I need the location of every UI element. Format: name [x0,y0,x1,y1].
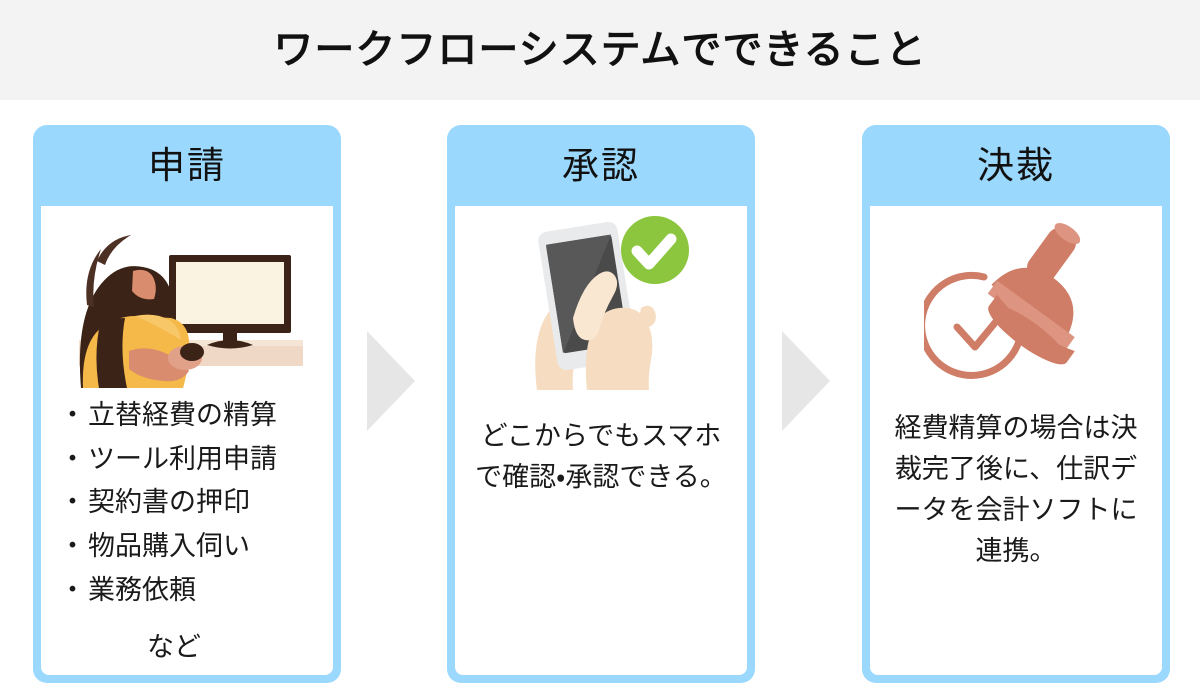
card-header-label: 承認 [562,147,640,184]
card-header-approval: 承認 [447,125,755,206]
list-item: ・物品購入伺い [59,525,333,569]
card-body-decision: 経費精算の場合は決裁完了後に、仕訳データを会計ソフトに連携。 [870,206,1162,675]
card-approval: 承認 [447,125,755,683]
list-item-label: 契約書の押印 [88,487,250,517]
bullet-marker-icon: ・ [59,569,86,613]
person-at-computer-illustration [41,206,333,394]
bullet-marker-icon: ・ [59,481,86,525]
arrow-application-to-approval [367,331,415,431]
bullet-marker-icon: ・ [59,394,86,438]
card-header-label: 申請 [148,147,226,184]
hanko-stamp-with-check-circle-illustration [870,206,1162,394]
list-item: ・契約書の押印 [59,481,333,525]
list-item-label: 業務依頼 [88,575,196,605]
arrow-approval-to-decision [782,331,830,431]
list-item-label: 物品購入伺い [88,531,250,561]
page-title: ワークフローシステムでできること [273,30,926,70]
card-header-decision: 決裁 [862,125,1170,206]
card-header-application: 申請 [33,125,341,206]
card-header-label: 決裁 [977,147,1055,184]
card-body-application: ・立替経費の精算 ・ツール利用申請 ・契約書の押印 ・物品購入伺い ・業務依頼 … [41,206,333,675]
card-application: 申請 [33,125,341,683]
card-body-approval: どこからでもスマホで確認・承認できる。 [455,206,747,675]
card-decision: 決裁 [862,125,1170,683]
title-band: ワークフローシステムでできること [0,0,1200,100]
approval-description: どこからでもスマホで確認・承認できる。 [455,416,747,498]
application-bullet-list: ・立替経費の精算 ・ツール利用申請 ・契約書の押印 ・物品購入伺い ・業務依頼 [41,394,333,613]
list-item: ・業務依頼 [59,569,333,613]
workflow-diagram: 申請 [0,100,1200,700]
list-item: ・立替経費の精算 [59,394,333,438]
list-item-label: ツール利用申請 [88,444,277,474]
list-item: ・ツール利用申請 [59,438,333,482]
application-footnote: など [41,625,333,664]
bullet-marker-icon: ・ [59,525,86,569]
list-item-label: 立替経費の精算 [88,400,277,430]
smartphone-in-hands-with-green-check-illustration [455,206,747,394]
bullet-marker-icon: ・ [59,438,86,482]
decision-description: 経費精算の場合は決裁完了後に、仕訳データを会計ソフトに連携。 [870,408,1162,572]
